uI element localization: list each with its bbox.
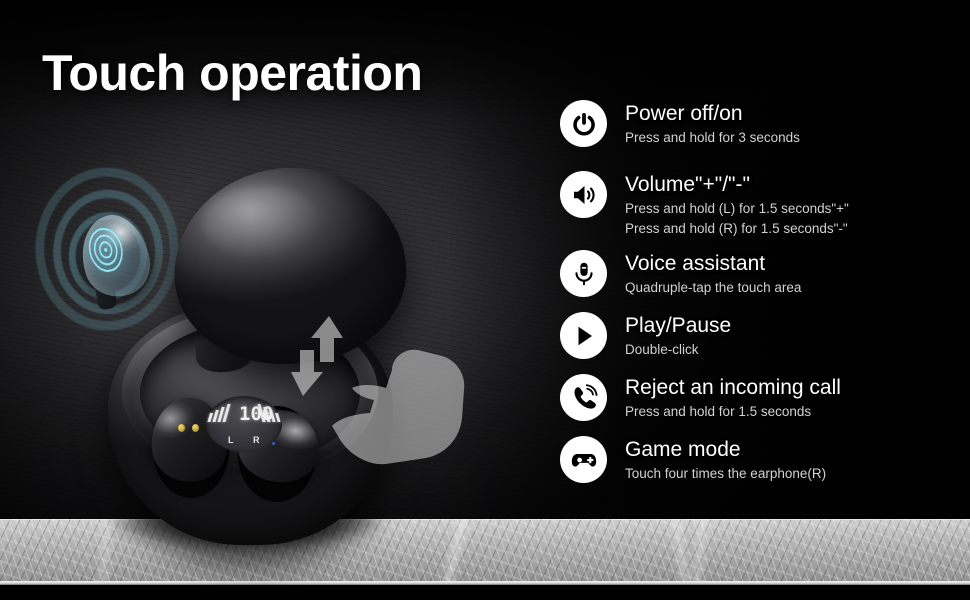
led-digit: 100 — [239, 405, 249, 424]
fingerprint-touch-indicator — [30, 163, 175, 328]
gamepad-icon[interactable] — [560, 436, 607, 483]
feature-title: Voice assistant — [625, 251, 801, 277]
feature-sub: Quadruple-tap the touch area — [625, 279, 801, 297]
play-icon[interactable] — [560, 312, 607, 359]
power-icon[interactable] — [560, 100, 607, 147]
feature-sub: Press and hold (R) for 1.5 seconds"-" — [625, 220, 849, 238]
feature-title: Play/Pause — [625, 313, 731, 339]
battery-bars-left — [207, 404, 230, 422]
feature-text: Game mode Touch four times the earphone(… — [625, 436, 826, 483]
feature-row-volume[interactable]: Volume"+"/"-" Press and hold (L) for 1.5… — [560, 171, 849, 238]
feature-row-play-pause[interactable]: Play/Pause Double-click — [560, 312, 731, 359]
page-title: Touch operation — [42, 44, 422, 102]
led-channel-labels: L R — [206, 435, 282, 445]
volume-icon[interactable] — [560, 171, 607, 218]
lid-highlight — [200, 182, 322, 260]
feature-row-reject-call[interactable]: Reject an incoming call Press and hold f… — [560, 374, 841, 421]
feature-text: Reject an incoming call Press and hold f… — [625, 374, 841, 421]
feature-sub: Touch four times the earphone(R) — [625, 465, 826, 483]
charging-contact — [192, 424, 199, 432]
led-battery-display: 100 L R — [206, 396, 282, 452]
feature-sub: Press and hold (L) for 1.5 seconds"+" — [625, 200, 849, 218]
feature-row-power[interactable]: Power off/on Press and hold for 3 second… — [560, 100, 800, 147]
feature-row-voice-assistant[interactable]: Voice assistant Quadruple-tap the touch … — [560, 250, 801, 297]
feature-text: Power off/on Press and hold for 3 second… — [625, 100, 800, 147]
charging-contact — [178, 424, 185, 432]
feature-title: Game mode — [625, 437, 826, 463]
feature-sub: Double-click — [625, 341, 731, 359]
feature-title: Power off/on — [625, 101, 800, 127]
phone-ringing-icon[interactable] — [560, 374, 607, 421]
led-label-right: R — [253, 435, 260, 445]
led-digits: 100 — [239, 405, 249, 424]
feature-sub: Press and hold for 3 seconds — [625, 129, 800, 147]
feature-row-game-mode[interactable]: Game mode Touch four times the earphone(… — [560, 436, 826, 483]
microphone-icon[interactable] — [560, 250, 607, 297]
feature-sub: Press and hold for 1.5 seconds — [625, 403, 841, 421]
infographic-canvas: Touch operation 100 L R — [0, 0, 970, 600]
feature-title: Reject an incoming call — [625, 375, 841, 401]
feature-title: Volume"+"/"-" — [625, 172, 849, 198]
floor-underside — [0, 585, 970, 600]
hand-gesture-icon — [330, 340, 468, 466]
led-label-left: L — [228, 435, 234, 445]
feature-text: Volume"+"/"-" Press and hold (L) for 1.5… — [625, 171, 849, 238]
feature-text: Play/Pause Double-click — [625, 312, 731, 359]
feature-text: Voice assistant Quadruple-tap the touch … — [625, 250, 801, 297]
